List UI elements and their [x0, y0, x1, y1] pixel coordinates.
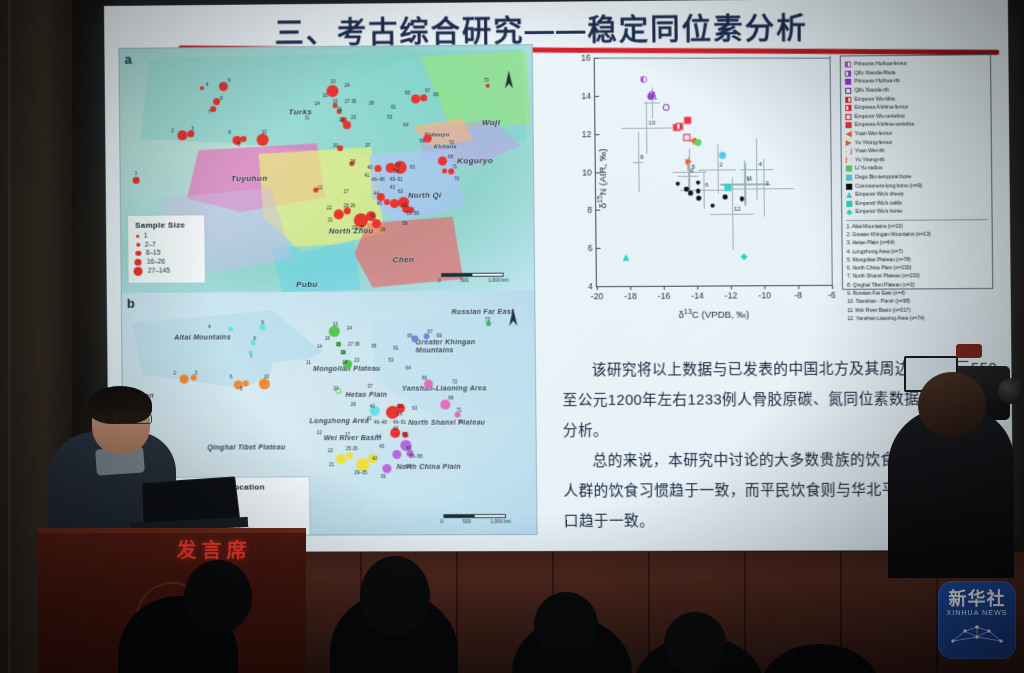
audience-head — [184, 560, 252, 634]
site-number: 43 — [390, 185, 395, 190]
data-point — [696, 180, 701, 185]
podium-sign: 发言席 — [152, 534, 276, 558]
site-number: 3 — [195, 371, 198, 376]
scale-zero: 0 — [440, 519, 443, 525]
site-number: 41 — [364, 173, 369, 178]
sample-dot-icon — [135, 259, 142, 266]
site-number: 44 — [374, 191, 379, 196]
y-axis-tick: 6 — [588, 243, 593, 253]
data-point — [719, 152, 726, 159]
site-number: 49–51 — [390, 177, 403, 182]
site-number: 52 — [396, 163, 401, 168]
site-number: 45 — [379, 444, 384, 449]
site-number: 55–58 — [406, 211, 419, 216]
site-number: 39 — [380, 474, 385, 479]
site-number: 5 — [238, 142, 241, 147]
site-number: 23 — [351, 115, 356, 120]
site-number: 4 — [208, 324, 211, 329]
data-point — [663, 104, 670, 111]
geo-label-qinghai-tibet: Qinghai Tibet Plateau — [207, 444, 285, 451]
site-number: 27 36 — [345, 99, 357, 104]
site-number: 15 — [336, 342, 341, 347]
legend-marker-icon — [846, 183, 852, 189]
site-number: 8 — [253, 336, 256, 341]
legend-label: Emperor Wu's horse — [855, 209, 902, 215]
site-number: 40 — [367, 165, 372, 170]
site-number: 29–35 — [354, 470, 367, 475]
legend-label: Emperor Wu-tibia — [854, 96, 894, 102]
site-number: 29–35 — [352, 225, 365, 230]
site-number: 60 — [406, 446, 411, 451]
legend-label: 8–15 — [146, 250, 161, 257]
site-number: 53 — [388, 358, 393, 363]
site-number: 71 — [456, 408, 461, 413]
x-axis-label: δ13C (VPDB, ‰) — [596, 308, 832, 322]
site-number: 64 — [406, 366, 411, 371]
legend-label: Emperor Wu's cattle — [855, 200, 902, 206]
legend-marker-icon — [846, 149, 852, 155]
scale-max: 1,000 km — [490, 519, 511, 525]
legend-label: Princess Huihua-femur — [854, 61, 907, 68]
geo-label-north-shanxi: North Shanxi Plateau — [408, 420, 485, 427]
site-number: 10 — [262, 130, 267, 135]
region-mean-label: 4 — [759, 162, 762, 168]
site-number: 46–48 — [374, 420, 387, 425]
legend-region-item: 12. Yanshan-Liaoning Area (n=74) — [847, 314, 988, 323]
y-axis-label-text: δ15N (AIR, ‰) — [598, 148, 610, 208]
region-mean-label: 10 — [648, 121, 655, 127]
site-number: 62 — [398, 189, 403, 194]
x-axis-tick: -10 — [758, 290, 771, 300]
site-marker — [334, 209, 344, 219]
site-number: 12 — [317, 185, 322, 190]
site-marker — [329, 326, 340, 337]
site-number: 38 — [369, 101, 374, 106]
site-marker — [133, 177, 140, 184]
site-marker — [243, 380, 249, 386]
polity-label-wuji: Wuji — [482, 118, 501, 127]
legend-label: Princess Huihua-rib — [854, 79, 899, 85]
legend-marker-icon — [846, 209, 852, 215]
legend-label: Yu Yirong-femur — [855, 140, 892, 146]
camera-top-handle — [956, 344, 982, 358]
geo-label-russian-far-east: Russian Far East — [451, 309, 513, 316]
site-number: 37 — [368, 384, 373, 389]
site-marker — [374, 165, 381, 172]
site-number: 23 — [354, 358, 359, 363]
site-number: 14 — [314, 101, 319, 106]
geo-label-greater-khingan: Greater Khingan Mountains — [415, 339, 476, 355]
site-number: 11 — [306, 360, 311, 365]
data-point — [697, 196, 702, 201]
site-number: 70 — [458, 420, 463, 425]
site-number: 11 — [305, 115, 310, 120]
legend-marker-icon — [845, 105, 851, 111]
data-point — [683, 134, 690, 141]
site-marker — [200, 86, 204, 90]
y-axis-label: δ15N (AIR, ‰) — [596, 118, 609, 239]
site-marker — [228, 326, 233, 331]
legend-marker-icon — [846, 140, 852, 146]
y-axis-tick: 16 — [581, 53, 591, 63]
site-number: 59 — [406, 464, 411, 469]
site-marker — [240, 136, 246, 142]
data-point — [676, 181, 681, 186]
x-axis-tick: -18 — [624, 291, 637, 301]
site-number: 28 — [350, 159, 355, 164]
site-marker — [486, 84, 490, 88]
site-marker — [346, 452, 353, 459]
legend-label: 27–145 — [148, 268, 170, 275]
legend-label: Commoners-long bone (n=9) — [855, 183, 922, 190]
site-number: 54 — [397, 412, 402, 417]
site-marker — [177, 130, 187, 140]
data-point — [710, 203, 715, 208]
sample-dot-icon — [136, 235, 139, 238]
site-number: 22 — [327, 205, 332, 210]
error-bar-y — [703, 171, 704, 209]
region-mean-label: 12 — [734, 207, 741, 213]
site-number: 53 — [387, 115, 392, 120]
legend-row: Emperor Wu's horse — [846, 207, 987, 217]
sample-size-legend: Sample Size 1 2–7 8–15 16–26 — [127, 214, 206, 284]
site-number: 16 — [322, 93, 327, 98]
region-mean-label: 3 — [766, 181, 769, 187]
site-number: 37 — [365, 143, 370, 148]
data-point — [676, 123, 683, 130]
site-number: 54 — [394, 169, 399, 174]
site-number: 73 — [484, 78, 489, 83]
legend-marker-icon — [846, 175, 852, 181]
scale-max: 1,000 km — [488, 278, 509, 284]
site-number: 73 — [485, 317, 490, 322]
panel-a-compass-icon — [504, 69, 514, 91]
site-number: 20 — [333, 386, 338, 391]
site-number: 45 — [377, 201, 382, 206]
site-marker — [420, 94, 427, 101]
site-number: 25 26 — [346, 446, 358, 451]
legend-label: Li Yu-radius — [855, 166, 882, 172]
site-marker — [442, 168, 447, 173]
site-number: 65 — [405, 90, 410, 95]
watermark-cn-text: 新华社 — [949, 590, 1006, 608]
site-number: 43 — [393, 426, 398, 431]
xinhua-news-watermark: 新华社 XINHUA NEWS — [938, 581, 1016, 659]
site-number: 38 — [371, 344, 376, 349]
polity-label-tuyuhun: Tuyuhun — [231, 174, 268, 183]
data-point — [684, 117, 691, 124]
site-marker — [259, 378, 270, 389]
region-mean-label: 11 — [746, 176, 752, 182]
chart-legend: Princess Huihua-femurQifu Xiaoda-fibulaP… — [840, 54, 994, 290]
slide-surface: 三、考古综合研究——稳定同位素分析 a — [104, 0, 1013, 552]
scale-mid: 500 — [460, 278, 468, 284]
legend-marker-icon — [845, 123, 851, 129]
legend-row: 8–15 — [135, 250, 197, 257]
site-number: 10 — [264, 374, 269, 379]
data-point — [723, 194, 728, 199]
site-number: 61 — [391, 105, 396, 110]
scale-mid: 500 — [463, 519, 471, 525]
x-axis-tick: -16 — [658, 291, 671, 301]
site-number: 17 — [345, 432, 350, 437]
site-number: 66 — [422, 376, 427, 381]
legend-label: Yu Yirong-rib — [855, 157, 885, 163]
panel-a-scalebar: 0 500 1,000 km — [441, 273, 509, 284]
sample-size-legend-title: Sample Size — [135, 220, 197, 229]
site-number: 64 — [403, 123, 408, 128]
y-axis-tick: 10 — [582, 167, 592, 177]
y-axis-tick: 8 — [587, 205, 592, 215]
site-marker — [343, 121, 351, 129]
legend-row: 1 — [135, 232, 197, 239]
site-number: 9 — [228, 78, 231, 83]
scale-zero: 0 — [438, 278, 441, 284]
legend-row: 27–145 — [136, 267, 198, 276]
site-number: 67 — [427, 329, 432, 334]
data-point — [640, 76, 647, 83]
legend-label: Dugu Bin-temporal bone — [855, 174, 911, 180]
legend-marker-icon — [846, 131, 852, 137]
y-axis-tick: 4 — [588, 281, 593, 291]
site-number: 25 26 — [344, 203, 356, 208]
site-number: 68 — [448, 396, 453, 401]
legend-marker-icon — [845, 88, 851, 94]
legend-marker-icon — [845, 96, 851, 102]
site-number: 6 — [230, 374, 233, 379]
site-number: 7 — [208, 110, 211, 115]
y-axis-tick: 12 — [582, 129, 592, 139]
site-number: 18 — [342, 360, 347, 365]
data-point — [696, 189, 701, 194]
site-number: 19 — [337, 107, 342, 112]
x-axis-label-text: δ13C (VPDB, ‰) — [679, 310, 750, 321]
site-number: 69 — [433, 92, 438, 97]
site-marker — [411, 94, 420, 103]
site-number: 62 — [402, 432, 407, 437]
x-axis-tick: -8 — [794, 290, 802, 300]
map-panel-a: a Turks Wuji — [119, 45, 534, 293]
site-number: 6 — [228, 130, 231, 135]
site-number: 7 — [250, 354, 253, 359]
site-marker — [344, 207, 351, 214]
projection-screen: 三、考古综合研究——稳定同位素分析 a — [104, 0, 1013, 552]
site-number: 17 — [344, 189, 349, 194]
site-number: 52 — [398, 404, 403, 409]
legend-label: Emperor Wu's sheep — [855, 192, 903, 198]
site-number: 68 — [448, 154, 453, 159]
site-number: 67 — [425, 88, 430, 93]
x-axis-tick: -20 — [591, 291, 604, 301]
site-number: 28 — [351, 402, 356, 407]
site-number: 14 — [317, 344, 322, 349]
legend-marker-icon — [845, 62, 851, 68]
panel-b-scalebar: 0 500 1,000 km — [443, 514, 511, 525]
site-number: 42 — [370, 213, 375, 218]
site-marker — [180, 375, 189, 384]
site-number: 65 — [407, 333, 412, 338]
site-number: 69 — [437, 333, 442, 338]
site-marker — [392, 450, 401, 459]
sample-dot-icon — [134, 267, 143, 276]
audience-head — [360, 556, 430, 636]
y-axis-tick: 14 — [581, 91, 591, 101]
site-marker — [326, 85, 338, 97]
site-number: 72 — [452, 379, 457, 384]
site-number: 21 — [328, 217, 333, 222]
site-number: 44 — [376, 434, 381, 439]
camera-lens-icon — [998, 378, 1024, 404]
region-mean-label: 1 — [654, 96, 657, 102]
legend-marker-icon — [846, 201, 852, 207]
legend-label: 2–7 — [145, 241, 156, 248]
legend-label: 16–26 — [147, 258, 165, 265]
legend-label: Qifu Xiaoda-fibula — [854, 70, 895, 76]
polity-label-chen: Chen — [392, 255, 414, 264]
data-point — [622, 254, 629, 261]
legend-marker-icon — [845, 79, 851, 85]
scatter-plot-area: 46810121416-20-18-16-14-12-10-8-61234567… — [594, 56, 832, 288]
panel-b-compass-icon — [508, 307, 518, 329]
polity-label-pubu: Pubu — [296, 280, 318, 289]
audience-head — [664, 612, 726, 673]
site-number: 66 — [420, 139, 425, 144]
legend-marker-icon — [846, 166, 852, 172]
site-number: 2 — [174, 371, 177, 376]
site-marker — [440, 400, 450, 410]
data-point — [725, 184, 732, 191]
site-number: 40 — [370, 404, 375, 409]
site-number: 27 36 — [348, 342, 360, 347]
chart-legend-series: Princess Huihua-femurQifu Xiaoda-fibulaP… — [845, 59, 988, 216]
glasses-icon — [116, 414, 152, 424]
legend-label: Yuan Wei-femur — [855, 131, 892, 137]
legend-marker-icon — [845, 70, 851, 76]
legend-row: 16–26 — [135, 258, 197, 265]
site-number: 72 — [449, 140, 454, 145]
site-number: 3 — [191, 126, 194, 131]
site-number: 16 — [325, 336, 330, 341]
conference-room: 三、考古综合研究——稳定同位素分析 a — [0, 0, 1024, 673]
data-point — [688, 191, 693, 196]
site-number: 12 — [317, 430, 322, 435]
polity-label-koguryo: Koguryo — [457, 156, 493, 165]
sample-dot-icon — [136, 243, 140, 247]
x-axis-tick: -12 — [725, 290, 738, 300]
site-marker — [424, 380, 433, 389]
region-mean-label: 8 — [640, 155, 643, 161]
audience-head — [534, 592, 598, 658]
site-number: 46–48 — [372, 177, 385, 182]
site-number: 61 — [393, 346, 398, 351]
site-number: 63 — [410, 165, 415, 170]
site-marker — [438, 156, 447, 165]
panel-b-letter: b — [127, 296, 135, 311]
site-marker — [219, 82, 228, 91]
map-figure: a Turks Wuji — [118, 44, 537, 536]
site-number: 8 — [220, 96, 223, 101]
site-number: 21 — [329, 462, 334, 467]
region-mean-label: 2 — [719, 162, 722, 168]
site-number: 63 — [412, 406, 417, 411]
legend-label: Empress A'shina-femur — [854, 105, 908, 111]
watermark-en-text: XINHUA NEWS — [946, 610, 1007, 617]
site-number: 19 — [340, 350, 345, 355]
site-number: 15 — [333, 99, 338, 104]
panel-a-letter: a — [124, 52, 131, 67]
legend-row: 2–7 — [135, 241, 197, 248]
site-number: 55–58 — [410, 454, 423, 459]
data-point — [739, 196, 744, 201]
site-number: 70 — [454, 176, 459, 181]
isotope-scatter-figure: 46810121416-20-18-16-14-12-10-8-61234567… — [559, 48, 998, 344]
region-mean-label: 9 — [690, 169, 693, 175]
site-number: 24 — [347, 326, 352, 331]
site-number: 39 — [380, 227, 385, 232]
site-marker — [257, 134, 269, 146]
site-number: 24 — [344, 83, 349, 88]
site-number: 13 — [333, 322, 338, 327]
geo-label-wei-river-basin: Wei River Basin — [324, 435, 382, 442]
legend-marker-icon — [845, 114, 851, 120]
legend-label: Emperor Wu-vertebra — [855, 113, 905, 119]
site-number: 49–51 — [393, 420, 406, 425]
site-number: 71 — [452, 164, 457, 169]
network-graphic-icon — [949, 623, 1005, 647]
site-marker — [213, 98, 220, 105]
site-number: 18 — [339, 117, 344, 122]
sample-dot-icon — [135, 251, 141, 257]
data-point — [695, 139, 702, 146]
geo-label-yanshan-liaoning: Yanshan-Liaoning Area — [402, 385, 487, 392]
legend-label: Empress A'shina-vertebra — [855, 122, 914, 129]
legend-label: Yuan Wei-rib — [855, 148, 885, 154]
site-marker — [382, 464, 391, 473]
site-number: 42 — [372, 456, 377, 461]
site-marker — [336, 454, 346, 464]
chart-legend-regions: 1. Altai Mountains (n=13)2. Greater Khin… — [846, 219, 988, 324]
site-number: 4 — [206, 82, 209, 87]
camera-operator-head — [918, 372, 986, 438]
x-axis-tick: -6 — [828, 290, 836, 300]
legend-label: 1 — [144, 233, 148, 240]
site-number: 1 — [135, 171, 138, 176]
geo-label-altai: Altai Mountains — [174, 334, 231, 341]
site-marker — [187, 130, 194, 137]
site-marker — [424, 134, 432, 142]
x-axis-tick: -14 — [691, 291, 704, 301]
legend-label: Qifu Xiaoda-rib — [854, 87, 889, 93]
geo-label-longzhong: Longzhong Area — [309, 418, 369, 425]
legend-marker-icon — [846, 157, 852, 163]
site-number: 41 — [367, 416, 372, 421]
region-mean-label: 6 — [705, 183, 708, 189]
site-number: 5 — [240, 386, 243, 391]
site-number: 22 — [328, 448, 333, 453]
site-number: 9 — [261, 320, 264, 325]
site-number: 20 — [333, 143, 338, 148]
geo-label-hetao-plain: Hetao Plain — [345, 392, 387, 399]
polity-label-north-qi: North Qi — [408, 192, 442, 200]
data-point — [740, 253, 747, 260]
site-number: 13 — [330, 79, 335, 84]
legend-marker-icon — [846, 192, 852, 198]
site-number: 59 — [402, 221, 407, 226]
site-number: 2 — [171, 128, 174, 133]
site-number: 60 — [402, 203, 407, 208]
